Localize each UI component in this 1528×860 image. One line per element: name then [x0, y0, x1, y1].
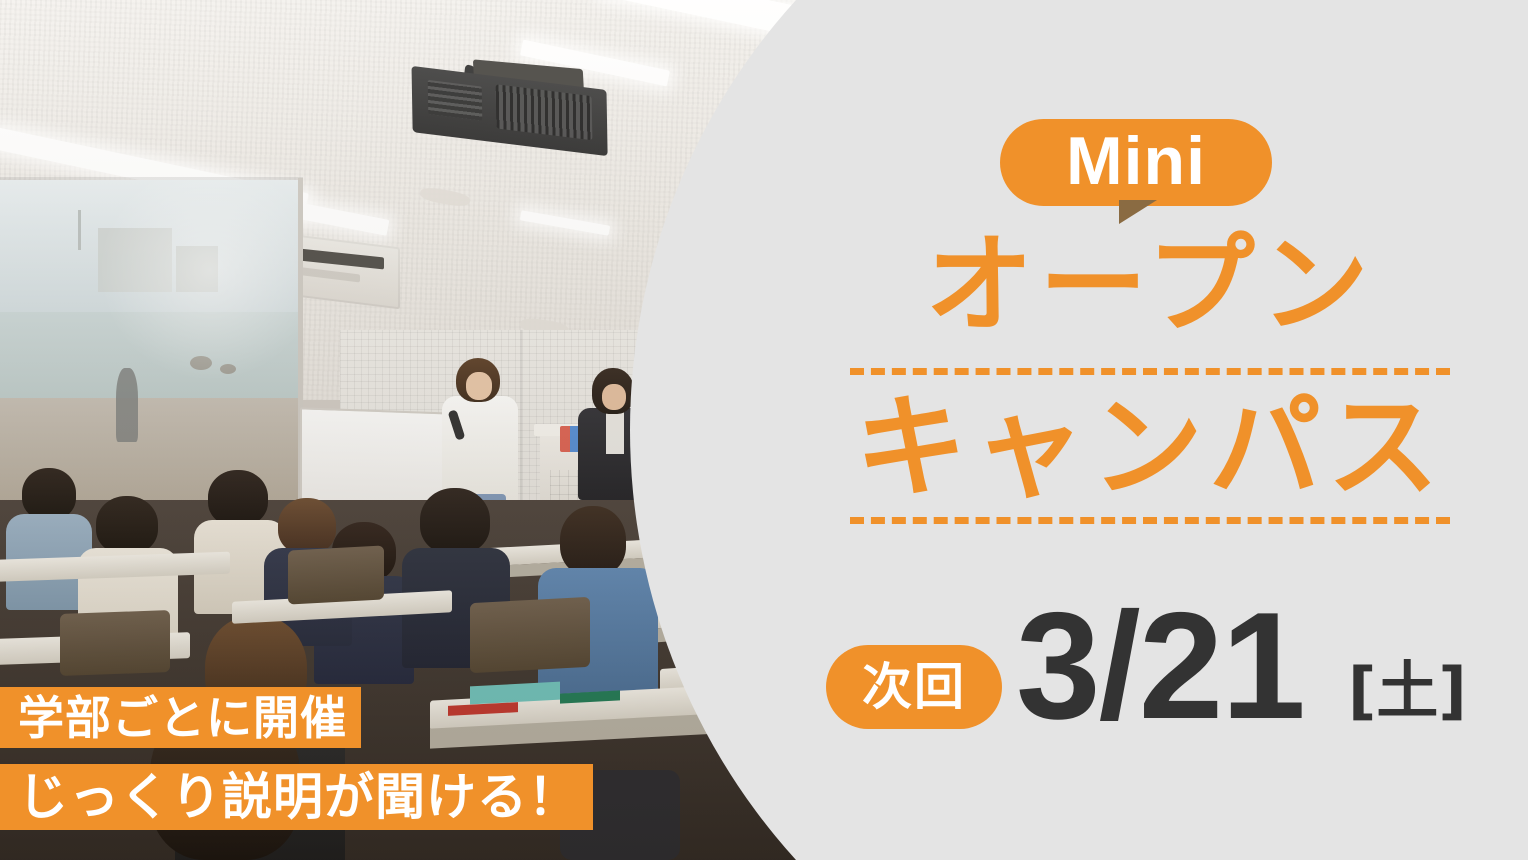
mini-badge[interactable]: Mini — [1000, 119, 1272, 206]
banner-content: Mini オープン キャンパス 次回 3/21 [土] 学部ごとに開催 じっくり… — [0, 0, 1528, 860]
mini-badge-label: Mini — [1066, 127, 1206, 195]
mini-badge-tail-icon — [1119, 200, 1157, 224]
dashed-divider-top — [850, 368, 1450, 375]
next-session-label: 次回 — [862, 662, 966, 712]
feature-tag-1: 学部ごとに開催 — [0, 687, 361, 748]
banner-root: Mini オープン キャンパス 次回 3/21 [土] 学部ごとに開催 じっくり… — [0, 0, 1528, 860]
next-session-pill[interactable]: 次回 — [826, 645, 1002, 729]
feature-tag-2: じっくり説明が聞ける！ — [0, 764, 593, 830]
title-line-1: オープン — [840, 232, 1460, 340]
title-line-2: キャンパス — [840, 392, 1460, 504]
dashed-divider-bottom — [850, 517, 1450, 524]
next-session-date: 3/21 — [1016, 590, 1304, 742]
next-session-day-of-week: [土] — [1348, 660, 1467, 722]
